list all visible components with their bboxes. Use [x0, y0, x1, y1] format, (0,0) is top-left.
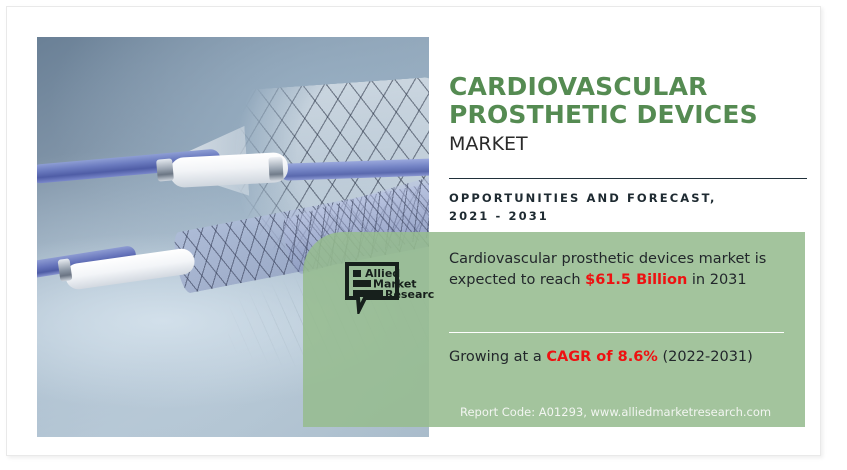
market-value-suffix: in 2031 — [687, 272, 746, 288]
title-divider — [449, 178, 807, 179]
poster-page: CARDIOVASCULAR PROSTHETIC DEVICES MARKET… — [0, 0, 847, 470]
highlights-panel: Allied Market Research Cardiovascular pr… — [303, 232, 805, 427]
allied-market-research-logo: Allied Market Research — [345, 262, 435, 314]
logo-text-line-3: Research — [385, 288, 435, 301]
title-line-2: PROSTHETIC DEVICES — [449, 100, 758, 129]
market-value-statement: Cardiovascular prosthetic devices market… — [449, 249, 789, 291]
kicker-line-2: 2021 - 2031 — [449, 209, 549, 223]
forecast-kicker: OPPORTUNITIES AND FORECAST, 2021 - 2031 — [449, 189, 809, 225]
cagr-statement: Growing at a CAGR of 8.6% (2022-2031) — [449, 347, 789, 368]
cagr-suffix: (2022-2031) — [658, 349, 753, 365]
cagr-highlight: CAGR of 8.6% — [546, 349, 658, 365]
catheter-marker-band-b — [268, 157, 283, 182]
cagr-prefix: Growing at a — [449, 349, 546, 365]
poster-card: CARDIOVASCULAR PROSTHETIC DEVICES MARKET… — [6, 6, 821, 456]
report-code-footer: Report Code: A01293, www.alliedmarketres… — [460, 405, 805, 420]
title-line-1: CARDIOVASCULAR — [449, 72, 708, 101]
panel-divider — [449, 332, 784, 333]
title-subtitle: MARKET — [449, 131, 807, 157]
title-block: CARDIOVASCULAR PROSTHETIC DEVICES MARKET — [449, 73, 807, 157]
kicker-line-1: OPPORTUNITIES AND FORECAST, — [449, 191, 716, 205]
market-value-highlight: $61.5 Billion — [585, 272, 687, 288]
page-title: CARDIOVASCULAR PROSTHETIC DEVICES — [449, 73, 807, 129]
catheter-marker-band-a — [156, 158, 174, 181]
